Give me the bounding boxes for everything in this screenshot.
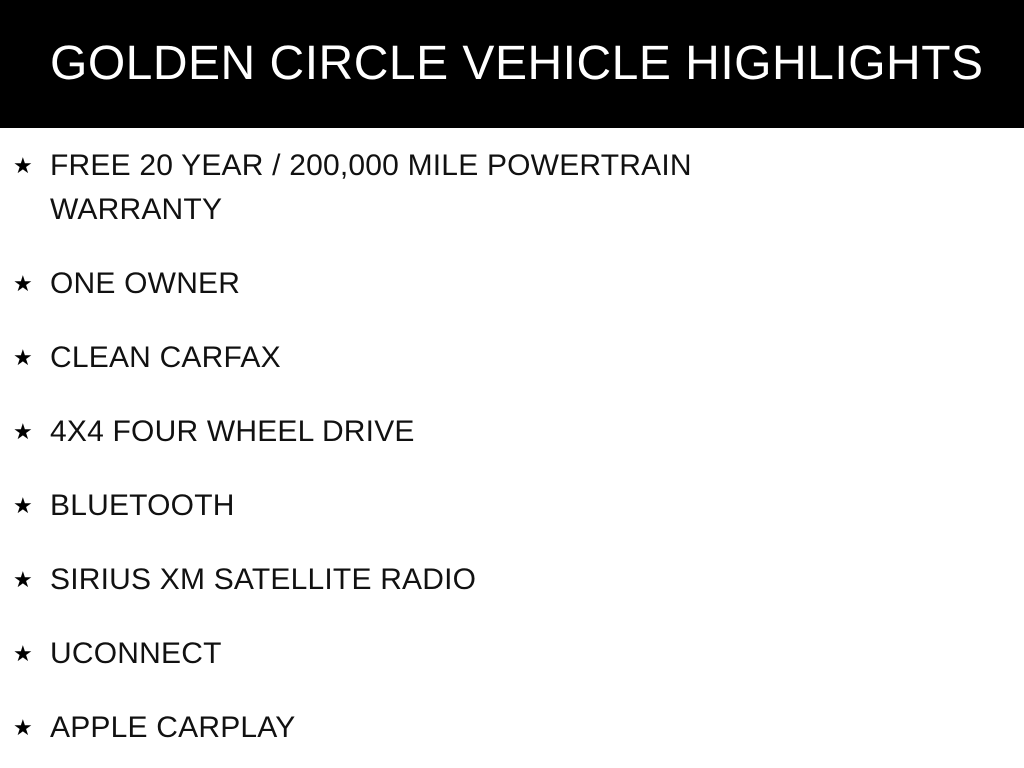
list-item-label: SIRIUS XM SATELLITE RADIO [50, 558, 850, 602]
list-item: ★ SIRIUS XM SATELLITE RADIO [0, 558, 1024, 602]
list-item-label: CLEAN CARFAX [50, 336, 850, 380]
list-item: ★ BLUETOOTH [0, 484, 1024, 528]
list-item: ★ FREE 20 YEAR / 200,000 MILE POWERTRAIN… [0, 144, 1024, 232]
star-bullet-icon: ★ [13, 484, 33, 528]
vehicle-highlights-page: GOLDEN CIRCLE VEHICLE HIGHLIGHTS ★ FREE … [0, 0, 1024, 768]
list-item-label: 4X4 FOUR WHEEL DRIVE [50, 410, 850, 454]
list-item: ★ CLEAN CARFAX [0, 336, 1024, 380]
list-item: ★ UCONNECT [0, 632, 1024, 676]
star-bullet-icon: ★ [13, 706, 33, 750]
list-item-label: UCONNECT [50, 632, 850, 676]
list-item-label: FREE 20 YEAR / 200,000 MILE POWERTRAIN W… [50, 144, 850, 232]
page-title: GOLDEN CIRCLE VEHICLE HIGHLIGHTS [50, 39, 984, 89]
list-item-label: BLUETOOTH [50, 484, 850, 528]
star-bullet-icon: ★ [13, 410, 33, 454]
list-item: ★ APPLE CARPLAY [0, 706, 1024, 750]
list-item-label: APPLE CARPLAY [50, 706, 850, 750]
star-bullet-icon: ★ [13, 144, 33, 188]
star-bullet-icon: ★ [13, 558, 33, 602]
star-bullet-icon: ★ [13, 262, 33, 306]
list-item-label: ONE OWNER [50, 262, 850, 306]
vehicle-highlights-list: ★ FREE 20 YEAR / 200,000 MILE POWERTRAIN… [0, 128, 1024, 750]
star-bullet-icon: ★ [13, 336, 33, 380]
list-item: ★ 4X4 FOUR WHEEL DRIVE [0, 410, 1024, 454]
star-bullet-icon: ★ [13, 632, 33, 676]
header-banner: GOLDEN CIRCLE VEHICLE HIGHLIGHTS [0, 0, 1024, 128]
list-item: ★ ONE OWNER [0, 262, 1024, 306]
